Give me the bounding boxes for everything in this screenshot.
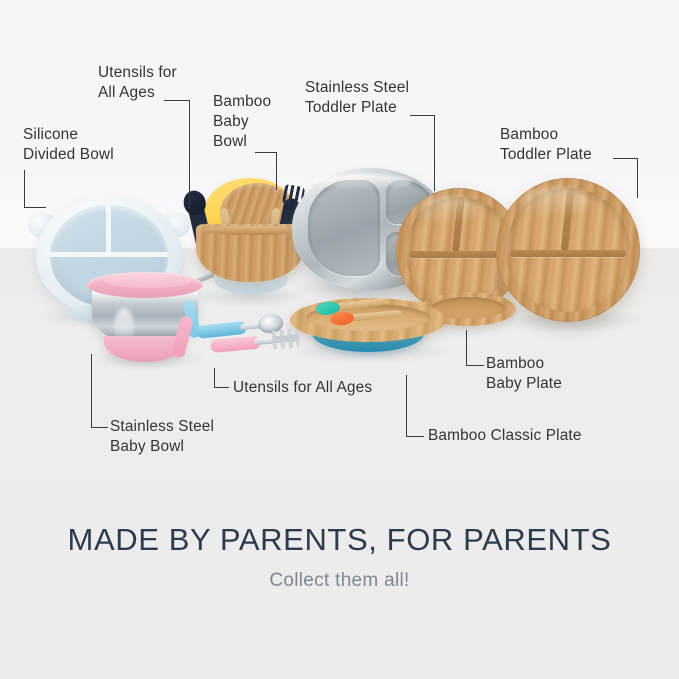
teal-spoon bbox=[317, 305, 318, 314]
label-stainless-steel-baby-bowl: Stainless Steel Baby Bowl bbox=[110, 417, 214, 457]
label-bamboo-classic-plate: Bamboo Classic Plate bbox=[428, 426, 582, 446]
plate-divider-horizontal bbox=[409, 251, 510, 258]
label-silicone-divided-bowl: Silicone Divided Bowl bbox=[23, 125, 114, 165]
bowl-rim bbox=[200, 226, 300, 235]
bowl-lid-top bbox=[105, 274, 191, 288]
label-bamboo-baby-bowl: Bamboo Baby Bowl bbox=[213, 92, 271, 152]
plate-divider-horizontal bbox=[510, 250, 625, 257]
plate-highlight bbox=[519, 187, 591, 219]
label-bamboo-baby-plate: Bamboo Baby Plate bbox=[486, 354, 562, 394]
bowl-lid bbox=[87, 272, 203, 298]
fork-handle bbox=[210, 336, 261, 353]
spoon-handle bbox=[196, 321, 247, 339]
plate-highlight bbox=[416, 196, 479, 224]
product-utensils-for-all-ages bbox=[196, 308, 308, 358]
bowl-divider-vertical bbox=[106, 205, 111, 255]
orange-spoon bbox=[332, 315, 333, 324]
label-stainless-steel-toddler-plate: Stainless Steel Toddler Plate bbox=[305, 78, 409, 118]
product-bamboo-toddler-plate-front bbox=[496, 178, 640, 322]
fork-head bbox=[271, 328, 300, 349]
label-utensils-all-ages-top: Utensils for All Ages bbox=[98, 63, 177, 103]
banner-subhead: Collect them all! bbox=[0, 570, 679, 592]
product-bamboo-classic-plate bbox=[290, 298, 446, 354]
product-bamboo-baby-bowl bbox=[196, 178, 304, 298]
banner-headline: MADE BY PARENTS, FOR PARENTS bbox=[0, 522, 679, 558]
label-bamboo-toddler-plate: Bamboo Toddler Plate bbox=[500, 125, 592, 165]
plate-section-large bbox=[308, 180, 380, 276]
label-utensils-all-ages-bottom: Utensils for All Ages bbox=[233, 378, 372, 398]
bowl-divider-horizontal bbox=[50, 252, 168, 257]
product-infographic: Silicone Divided Bowl Utensils for All A… bbox=[0, 0, 679, 679]
plate-body bbox=[496, 178, 640, 322]
